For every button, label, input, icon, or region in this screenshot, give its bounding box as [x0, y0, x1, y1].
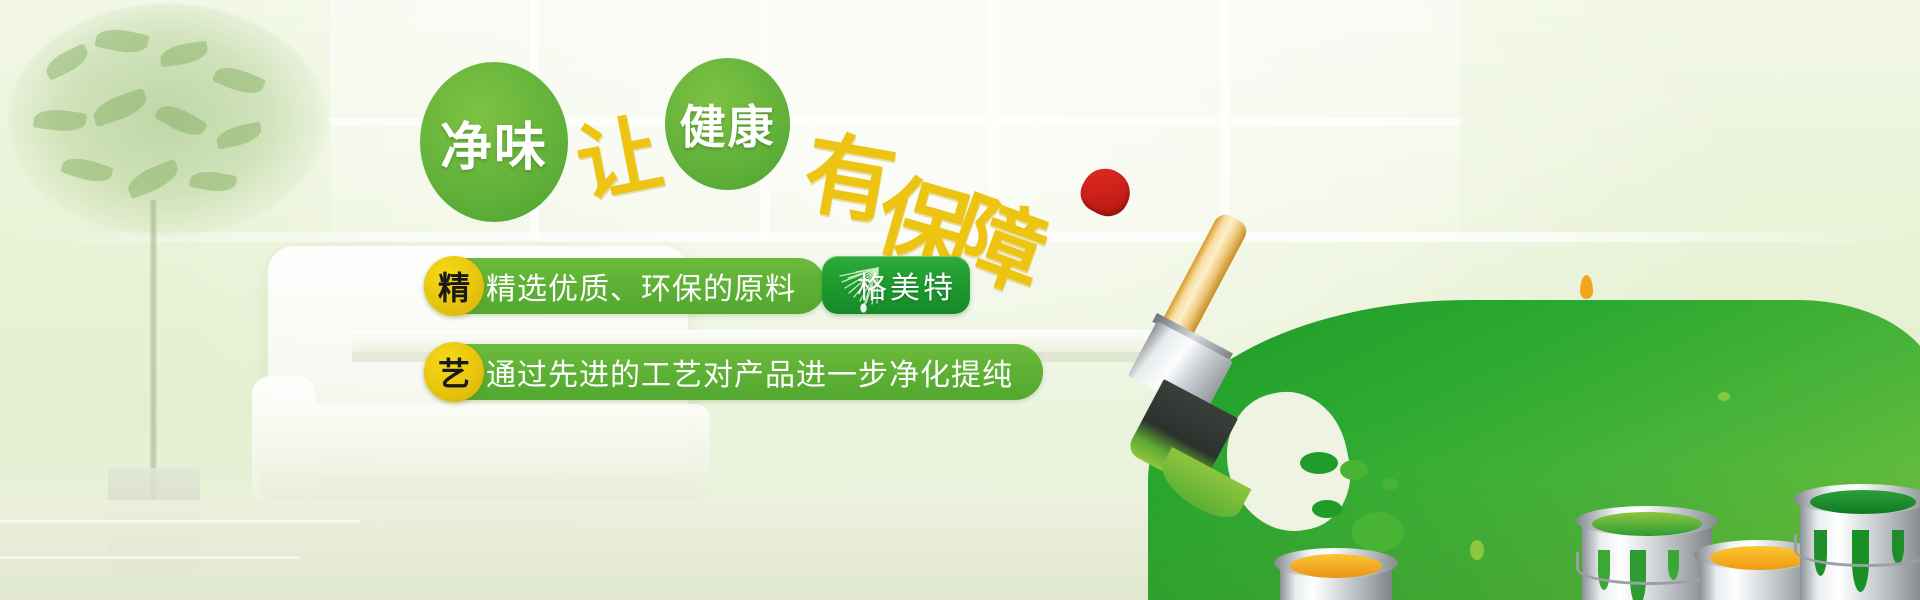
- paint-can-darkgreen-icon: [1800, 476, 1920, 600]
- feature-badge-char-2: 艺: [438, 349, 470, 395]
- feature-text-2: 通过先进的工艺对产品进一步净化提纯: [486, 350, 1013, 394]
- feature-row-1: 精选优质、环保的原料 精: [424, 258, 826, 314]
- feature-row-2: 通过先进的工艺对产品进一步净化提纯 艺: [424, 344, 1043, 400]
- feature-badge-2: 艺: [424, 342, 484, 402]
- headline-word-rang: 让: [565, 85, 671, 220]
- feature-badge-char-1: 精: [438, 263, 470, 309]
- headline-group: 净味 让 健康 有 保 障: [0, 0, 1100, 280]
- feature-bar-1: 精选优质、环保的原料: [424, 258, 826, 314]
- brand-badge[interactable]: 格美特: [822, 256, 970, 314]
- paint-splatter: [1770, 374, 1792, 390]
- brand-name: 格美特: [857, 263, 970, 307]
- feature-bar-2: 通过先进的工艺对产品进一步净化提纯: [424, 344, 1043, 400]
- paint-splatter: [1382, 478, 1398, 490]
- paint-splatter: [1340, 460, 1368, 480]
- sofa-seat: [258, 404, 710, 500]
- paint-can-green-icon: [1582, 498, 1712, 600]
- paint-splatter: [1718, 392, 1730, 401]
- headline-word-jingwei: 净味: [420, 62, 568, 222]
- headline-text-jiankang: 健康: [680, 91, 776, 157]
- paint-splatter: [1312, 500, 1342, 518]
- paint-splatter: [1300, 452, 1338, 474]
- floor-line: [0, 556, 300, 559]
- paint-splatter: [1470, 540, 1484, 560]
- feature-text-1: 精选优质、环保的原料: [486, 264, 796, 308]
- headline-text-jingwei: 净味: [440, 105, 548, 180]
- paint-can-orange-icon: [1280, 540, 1392, 600]
- promo-banner: 净味 让 健康 有 保 障 精选优质、环保的原料 精: [0, 0, 1920, 600]
- headline-word-jiankang: 健康: [665, 58, 790, 190]
- floor-line: [0, 520, 360, 523]
- feature-badge-1: 精: [424, 256, 484, 316]
